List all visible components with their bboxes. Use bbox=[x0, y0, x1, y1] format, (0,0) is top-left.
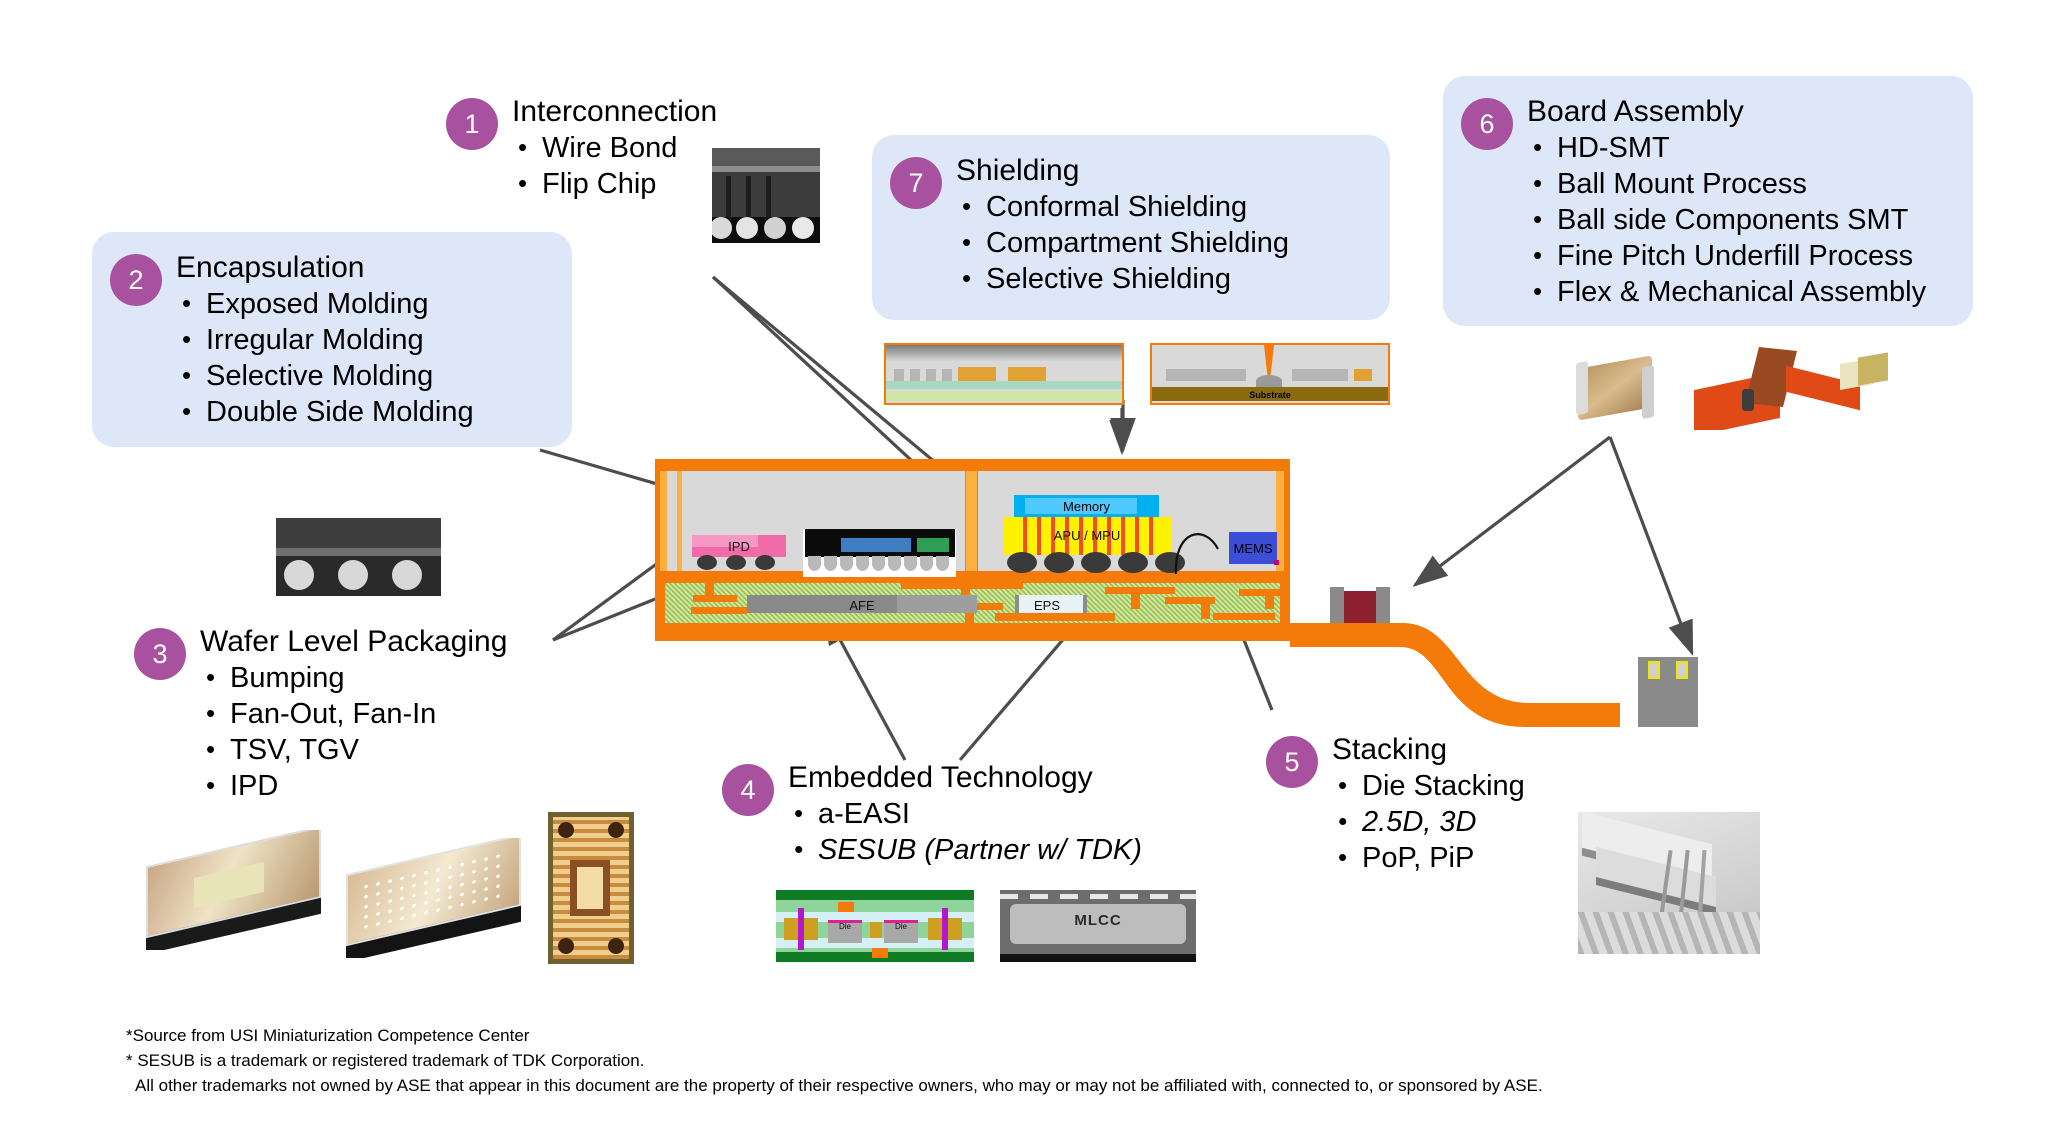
package-cross-section: IPD Memory APU / MPU bbox=[655, 459, 1290, 641]
micro-bump bbox=[904, 556, 917, 571]
smt-component-body bbox=[1344, 591, 1376, 623]
flex-circuit-assembly bbox=[1290, 575, 1750, 745]
shield-dome bbox=[1256, 375, 1282, 387]
list-item: Ball Mount Process bbox=[1527, 166, 1926, 202]
callout-badge-2: 2 bbox=[110, 254, 162, 306]
callout-6-board-assembly[interactable]: 6 Board Assembly HD-SMT Ball Mount Proce… bbox=[1443, 76, 1973, 326]
shield-substrate-layer bbox=[886, 391, 1122, 401]
thumb-compartment-shielding: Substrate bbox=[1150, 343, 1390, 405]
photo-fan-in-wlp-package bbox=[136, 830, 336, 950]
shield-metal-layer bbox=[886, 345, 1122, 361]
mold-rail-left-inner bbox=[677, 471, 682, 571]
list-item: Double Side Molding bbox=[176, 394, 474, 430]
ipd-label: IPD bbox=[692, 540, 786, 553]
list-item: Ball side Components SMT bbox=[1527, 202, 1926, 238]
micro-bump bbox=[840, 556, 853, 571]
callout-title-2: Encapsulation bbox=[176, 250, 474, 286]
footnote-sesub-trademark: * SESUB is a trademark or registered tra… bbox=[126, 1048, 1543, 1073]
shield-wall bbox=[1264, 345, 1274, 379]
micro-bump bbox=[936, 556, 949, 571]
list-item: PoP, PiP bbox=[1332, 840, 1525, 876]
mems-pad bbox=[1274, 560, 1279, 565]
callout-list-7: Conformal Shielding Compartment Shieldin… bbox=[956, 189, 1289, 297]
bga-solder-ball bbox=[1081, 552, 1111, 573]
photo-exposed-molding-sem bbox=[276, 518, 441, 596]
solder-ball bbox=[697, 555, 717, 570]
callout-list-3: Bumping Fan-Out, Fan-In TSV, TGV IPD bbox=[200, 660, 507, 804]
callout-badge-6: 6 bbox=[1461, 98, 1513, 150]
shield-component bbox=[1166, 369, 1246, 381]
list-item: Conformal Shielding bbox=[956, 189, 1289, 225]
substrate-core: AFE EPS bbox=[665, 577, 1280, 629]
connector-contact bbox=[1676, 661, 1688, 679]
mold-rail-left bbox=[660, 471, 667, 571]
embedded-die-label-right: Die bbox=[884, 922, 918, 931]
shield-core-layer bbox=[886, 381, 1122, 389]
photo-die-stacking-sem bbox=[1578, 812, 1760, 954]
embedded-die-label-left: Die bbox=[828, 922, 862, 931]
list-item: Die Stacking bbox=[1332, 768, 1525, 804]
list-item: Selective Shielding bbox=[956, 261, 1289, 297]
substrate-via bbox=[1131, 593, 1140, 609]
list-item: Exposed Molding bbox=[176, 286, 474, 322]
callout-3-wafer-level-packaging[interactable]: 3 Wafer Level Packaging Bumping Fan-Out,… bbox=[130, 620, 511, 808]
callout-5-stacking[interactable]: 5 Stacking Die Stacking 2.5D, 3D PoP, Pi… bbox=[1262, 728, 1529, 880]
list-item: IPD bbox=[200, 768, 507, 804]
list-item: Compartment Shielding bbox=[956, 225, 1289, 261]
callout-title-3: Wafer Level Packaging bbox=[200, 624, 507, 660]
micro-bump bbox=[872, 556, 885, 571]
micro-bump bbox=[888, 556, 901, 571]
mold-rail-right bbox=[1276, 471, 1284, 571]
bga-solder-ball bbox=[1044, 552, 1074, 573]
list-item: Flip Chip bbox=[512, 166, 717, 202]
footnotes: *Source from USI Miniaturization Compete… bbox=[126, 1023, 1543, 1098]
micro-bump bbox=[808, 556, 821, 571]
callout-list-5: Die Stacking 2.5D, 3D PoP, PiP bbox=[1332, 768, 1525, 876]
shield-component bbox=[1354, 369, 1372, 381]
photo-flip-chip-sem bbox=[712, 148, 820, 243]
photo-embedded-die-substrate: Die Die bbox=[776, 890, 974, 962]
substrate-trace bbox=[1213, 613, 1275, 620]
memory-label: Memory bbox=[1014, 500, 1159, 513]
mems-label: MEMS bbox=[1229, 542, 1277, 555]
list-item: TSV, TGV bbox=[200, 732, 507, 768]
photo-flex-mechanical-assembly bbox=[1690, 345, 1890, 430]
eps-label: EPS bbox=[1015, 599, 1079, 612]
footnote-other-trademarks: All other trademarks not owned by ASE th… bbox=[126, 1073, 1543, 1098]
bga-solder-ball bbox=[1007, 552, 1037, 573]
solder-ball bbox=[755, 555, 775, 570]
callout-title-7: Shielding bbox=[956, 153, 1289, 189]
smt-component-terminal bbox=[1376, 587, 1390, 623]
callout-title-4: Embedded Technology bbox=[788, 760, 1142, 796]
list-item: Bumping bbox=[200, 660, 507, 696]
list-item: a-EASI bbox=[788, 796, 1142, 832]
callout-badge-7: 7 bbox=[890, 157, 942, 209]
shield-substrate-layer: Substrate bbox=[1152, 387, 1388, 401]
smt-component-terminal bbox=[1330, 587, 1344, 623]
callout-title-6: Board Assembly bbox=[1527, 94, 1926, 130]
flex-connector bbox=[1638, 657, 1698, 727]
apu-mpu-label: APU / MPU bbox=[1003, 529, 1171, 542]
callout-4-embedded-technology[interactable]: 4 Embedded Technology a-EASI SESUB (Part… bbox=[718, 756, 1146, 872]
photo-ipd-die bbox=[548, 812, 634, 964]
micro-bump bbox=[920, 556, 933, 571]
bga-die-blue bbox=[841, 538, 911, 552]
micro-bump bbox=[856, 556, 869, 571]
list-item: 2.5D, 3D bbox=[1332, 804, 1525, 840]
callout-2-encapsulation[interactable]: 2 Encapsulation Exposed Molding Irregula… bbox=[92, 232, 572, 447]
substrate-trace bbox=[1105, 587, 1175, 594]
substrate-via bbox=[1201, 603, 1210, 619]
list-item: HD-SMT bbox=[1527, 130, 1926, 166]
callout-list-4: a-EASI SESUB (Partner w/ TDK) bbox=[788, 796, 1142, 868]
thumb-conformal-shielding bbox=[884, 343, 1124, 405]
photo-mlcc-capacitor bbox=[1572, 352, 1658, 424]
callout-1-interconnection[interactable]: 1 Interconnection Wire Bond Flip Chip bbox=[436, 88, 727, 208]
list-item: Fine Pitch Underfill Process bbox=[1527, 238, 1926, 274]
list-item: Selective Molding bbox=[176, 358, 474, 394]
solder-ball bbox=[726, 555, 746, 570]
micro-bump bbox=[824, 556, 837, 571]
mlcc-label: MLCC bbox=[1010, 912, 1186, 929]
substrate-trace bbox=[995, 613, 1115, 621]
list-item: Wire Bond bbox=[512, 130, 717, 166]
slide-canvas: 1 Interconnection Wire Bond Flip Chip 2 … bbox=[0, 0, 2048, 1141]
substrate-trace bbox=[1239, 589, 1283, 596]
photo-embedded-mlcc: MLCC bbox=[1000, 890, 1196, 962]
substrate-trace bbox=[691, 607, 747, 614]
footnote-source: *Source from USI Miniaturization Compete… bbox=[126, 1023, 1543, 1048]
list-item: SESUB (Partner w/ TDK) bbox=[788, 832, 1142, 868]
list-item: Irregular Molding bbox=[176, 322, 474, 358]
substrate-trace bbox=[693, 595, 737, 602]
bga-solder-ball bbox=[1118, 552, 1148, 573]
callout-badge-3: 3 bbox=[134, 628, 186, 680]
substrate-via bbox=[1265, 595, 1274, 609]
callout-list-2: Exposed Molding Irregular Molding Select… bbox=[176, 286, 474, 430]
callout-badge-4: 4 bbox=[722, 764, 774, 816]
callout-7-shielding[interactable]: 7 Shielding Conformal Shielding Compartm… bbox=[872, 135, 1390, 320]
callout-list-6: HD-SMT Ball Mount Process Ball side Comp… bbox=[1527, 130, 1926, 310]
mold-rail-center bbox=[966, 471, 977, 571]
substrate-label: Substrate bbox=[1152, 390, 1388, 400]
list-item: Flex & Mechanical Assembly bbox=[1527, 274, 1926, 310]
shield-component bbox=[1292, 369, 1348, 381]
callout-title-1: Interconnection bbox=[512, 94, 717, 130]
callout-list-1: Wire Bond Flip Chip bbox=[512, 130, 717, 202]
afe-label: AFE bbox=[747, 599, 977, 612]
photo-fan-out-wlp-package bbox=[336, 838, 536, 958]
package-bottom-band bbox=[655, 628, 1290, 641]
connector-contact bbox=[1648, 661, 1660, 679]
callout-badge-1: 1 bbox=[446, 98, 498, 150]
bga-die-green bbox=[917, 538, 949, 552]
list-item: Fan-Out, Fan-In bbox=[200, 696, 507, 732]
